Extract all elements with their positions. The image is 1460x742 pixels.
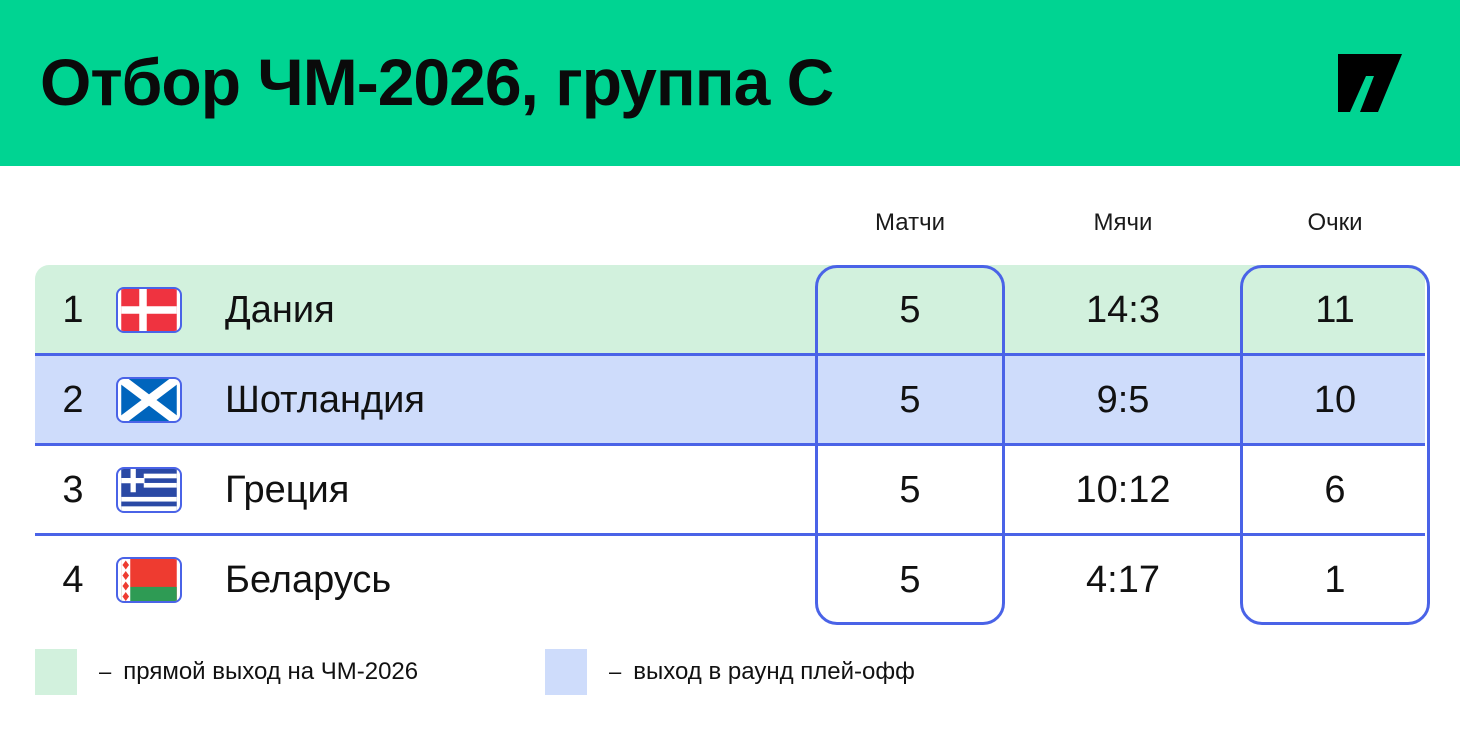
rank-number: 3 xyxy=(45,445,101,535)
legend: – прямой выход на ЧМ-2026 – выход в раун… xyxy=(35,649,1425,699)
belarus-flag-icon xyxy=(116,557,182,603)
standings-table: Матчи Мячи Очки 1 Дания 5 14:3 11 xyxy=(0,166,1460,742)
table-row[interactable]: 1 Дания 5 14:3 11 xyxy=(35,265,1425,355)
column-header-goals: Мячи xyxy=(1028,206,1218,240)
table-row[interactable]: 4 Беларусь 5 xyxy=(35,535,1425,625)
points-value: 10 xyxy=(1240,355,1430,445)
table-row[interactable]: 3 Греция 5 10:12 6 xyxy=(35,445,1425,535)
legend-label: прямой выход на ЧМ-2026 xyxy=(123,658,418,686)
wildberries-w-logo-icon xyxy=(1336,52,1420,114)
legend-item-direct-qualification: – прямой выход на ЧМ-2026 xyxy=(35,649,418,695)
column-header-row: Матчи Мячи Очки xyxy=(35,206,1425,246)
matches-value: 5 xyxy=(815,355,1005,445)
team-name: Греция xyxy=(225,445,349,535)
row-divider xyxy=(35,443,1425,446)
rank-number: 1 xyxy=(45,265,101,355)
goals-value: 10:12 xyxy=(1028,445,1218,535)
goals-value: 4:17 xyxy=(1028,535,1218,625)
row-divider xyxy=(35,533,1425,536)
header-banner: Отбор ЧМ-2026, группа С xyxy=(0,0,1460,166)
row-divider xyxy=(35,353,1425,356)
matches-value: 5 xyxy=(815,535,1005,625)
rank-number: 4 xyxy=(45,535,101,625)
team-name: Дания xyxy=(225,265,335,355)
legend-dash: – xyxy=(609,659,621,685)
goals-value: 14:3 xyxy=(1028,265,1218,355)
goals-value: 9:5 xyxy=(1028,355,1218,445)
matches-value: 5 xyxy=(815,445,1005,535)
table-row[interactable]: 2 Шотландия 5 9:5 10 xyxy=(35,355,1425,445)
points-value: 11 xyxy=(1240,265,1430,355)
denmark-flag-icon xyxy=(116,287,182,333)
page-title: Отбор ЧМ-2026, группа С xyxy=(40,40,833,124)
legend-swatch-green-icon xyxy=(35,649,77,695)
standings-rows: 1 Дания 5 14:3 11 2 xyxy=(35,265,1425,625)
team-name: Шотландия xyxy=(225,355,425,445)
matches-value: 5 xyxy=(815,265,1005,355)
column-header-points: Очки xyxy=(1240,206,1430,240)
team-name: Беларусь xyxy=(225,535,391,625)
legend-label: выход в раунд плей-офф xyxy=(633,658,915,686)
greece-flag-icon xyxy=(116,467,182,513)
legend-item-playoff-round: – выход в раунд плей-офф xyxy=(545,649,915,695)
legend-dash: – xyxy=(99,659,111,685)
points-value: 6 xyxy=(1240,445,1430,535)
points-value: 1 xyxy=(1240,535,1430,625)
standings-graphic: Отбор ЧМ-2026, группа С Матчи Мячи Очки … xyxy=(0,0,1460,742)
scotland-flag-icon xyxy=(116,377,182,423)
column-header-matches: Матчи xyxy=(815,206,1005,240)
legend-swatch-blue-icon xyxy=(545,649,587,695)
rank-number: 2 xyxy=(45,355,101,445)
